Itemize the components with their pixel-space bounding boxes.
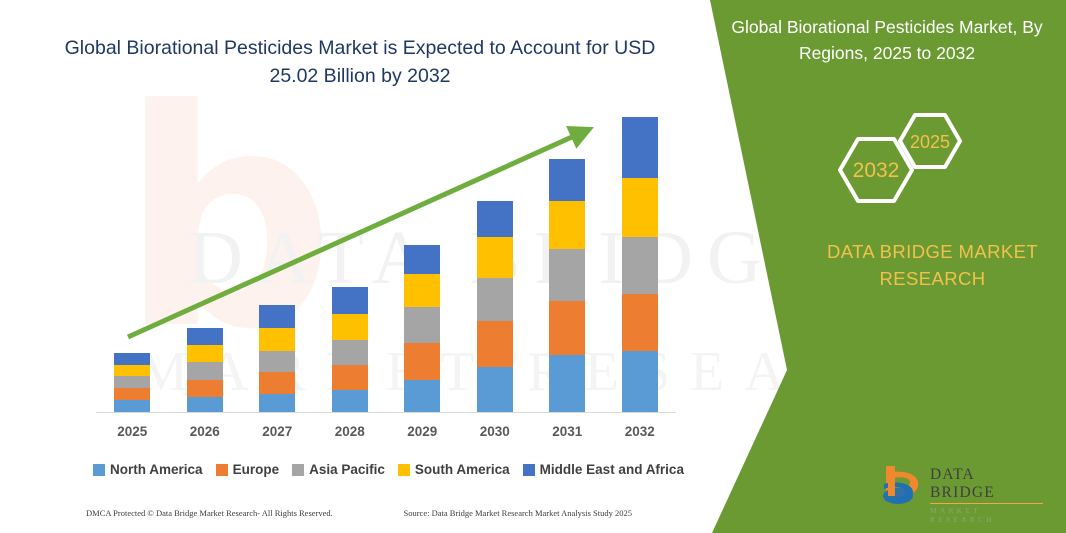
bar-segment (332, 390, 368, 412)
stacked-bar (622, 117, 658, 412)
bar-column (314, 110, 386, 412)
bar-segment (114, 376, 150, 388)
bar-segment (187, 328, 223, 345)
legend-label: Europe (233, 462, 280, 477)
brand-name: DATA BRIDGE MARKET RESEARCH (820, 238, 1045, 292)
hexagons-svg: 2032 2025 (820, 92, 1000, 220)
bar-segment (477, 321, 513, 366)
stacked-bar (259, 305, 295, 412)
bar-segment (187, 362, 223, 379)
bar-segment (549, 159, 585, 201)
plot-area (96, 110, 676, 412)
green-panel-title: Global Biorational Pesticides Market, By… (714, 14, 1060, 66)
stacked-bar (332, 287, 368, 412)
footer-copyright: DMCA Protected © Data Bridge Market Rese… (86, 508, 333, 518)
footer-source: Source: Data Bridge Market Research Mark… (403, 508, 632, 518)
x-axis-label-2029: 2029 (386, 424, 458, 439)
bar-segment (549, 355, 585, 412)
chart-legend: North AmericaEuropeAsia PacificSouth Ame… (96, 462, 681, 477)
bar-segment (477, 278, 513, 321)
bar-segment (404, 307, 440, 343)
x-axis-labels: 20252026202720282029203020312032 (96, 424, 676, 439)
bar-segment (259, 305, 295, 328)
bar-segment (404, 343, 440, 380)
infographic-root: b DATA BRIDGE MARKET RESEARCH Global Bio… (0, 0, 1066, 533)
legend-label: Middle East and Africa (540, 462, 684, 477)
bar-column (604, 110, 676, 412)
bar-segment (549, 249, 585, 301)
legend-item[interactable]: Asia Pacific (292, 462, 385, 477)
bar-segment (404, 245, 440, 274)
bar-segment (622, 294, 658, 350)
legend-item[interactable]: South America (398, 462, 510, 477)
bar-column (96, 110, 168, 412)
bar-segment (404, 274, 440, 307)
legend-item[interactable]: North America (93, 462, 203, 477)
legend-label: North America (110, 462, 203, 477)
bar-segment (622, 117, 658, 178)
bar-column (459, 110, 531, 412)
bar-segment (259, 372, 295, 394)
bar-segment (549, 301, 585, 355)
x-axis-line (96, 412, 676, 413)
bar-segment (404, 380, 440, 412)
bar-segment (259, 351, 295, 373)
bar-group (96, 110, 676, 412)
bar-segment (622, 237, 658, 294)
bar-segment (477, 367, 513, 412)
bar-column (386, 110, 458, 412)
stacked-bar (187, 328, 223, 412)
company-logo: DATA BRIDGE MARKET RESEARCH (878, 462, 1043, 508)
logo-b-mark-icon (878, 462, 924, 508)
bar-segment (332, 340, 368, 365)
bar-segment (259, 328, 295, 351)
legend-item[interactable]: Middle East and Africa (523, 462, 684, 477)
bar-segment (477, 201, 513, 238)
page-title: Global Biorational Pesticides Market is … (60, 34, 660, 90)
x-axis-label-2031: 2031 (531, 424, 603, 439)
legend-item[interactable]: Europe (216, 462, 280, 477)
bar-segment (622, 178, 658, 237)
bar-segment (332, 314, 368, 340)
bar-column (531, 110, 603, 412)
bar-segment (187, 345, 223, 362)
bar-segment (114, 388, 150, 400)
hexagon-group: 2032 2025 (820, 92, 1000, 220)
bar-segment (332, 287, 368, 314)
legend-label: Asia Pacific (309, 462, 385, 477)
logo-title: DATA BRIDGE (930, 466, 1043, 504)
stacked-bar (549, 159, 585, 412)
legend-swatch-icon (292, 464, 304, 476)
stacked-bar (404, 245, 440, 412)
bar-segment (114, 400, 150, 412)
bar-segment (259, 394, 295, 412)
bar-segment (477, 237, 513, 278)
bar-column (169, 110, 241, 412)
stacked-bar (114, 353, 150, 412)
legend-swatch-icon (523, 464, 535, 476)
logo-text: DATA BRIDGE MARKET RESEARCH (930, 466, 1043, 524)
footer: DMCA Protected © Data Bridge Market Rese… (0, 508, 714, 518)
x-axis-label-2026: 2026 (169, 424, 241, 439)
x-axis-label-2027: 2027 (241, 424, 313, 439)
stacked-bar (477, 201, 513, 412)
x-axis-label-2032: 2032 (604, 424, 676, 439)
bar-segment (187, 397, 223, 412)
bar-column (241, 110, 313, 412)
bar-segment (114, 365, 150, 377)
logo-tagline: MARKET RESEARCH (930, 506, 1043, 524)
bar-segment (114, 353, 150, 365)
brand-line-2: RESEARCH (820, 265, 1045, 292)
bar-segment (622, 351, 658, 412)
legend-label: South America (415, 462, 510, 477)
bar-segment (187, 380, 223, 397)
bar-segment (332, 365, 368, 391)
legend-swatch-icon (216, 464, 228, 476)
x-axis-label-2025: 2025 (96, 424, 168, 439)
legend-swatch-icon (93, 464, 105, 476)
brand-line-1: DATA BRIDGE MARKET (820, 238, 1045, 265)
x-axis-label-2028: 2028 (314, 424, 386, 439)
hexagon-2032-label: 2032 (853, 159, 900, 182)
hexagon-2025-label: 2025 (910, 132, 950, 152)
legend-swatch-icon (398, 464, 410, 476)
x-axis-label-2030: 2030 (459, 424, 531, 439)
bar-segment (549, 201, 585, 250)
chart-panel: Global Biorational Pesticides Market is … (0, 0, 714, 533)
